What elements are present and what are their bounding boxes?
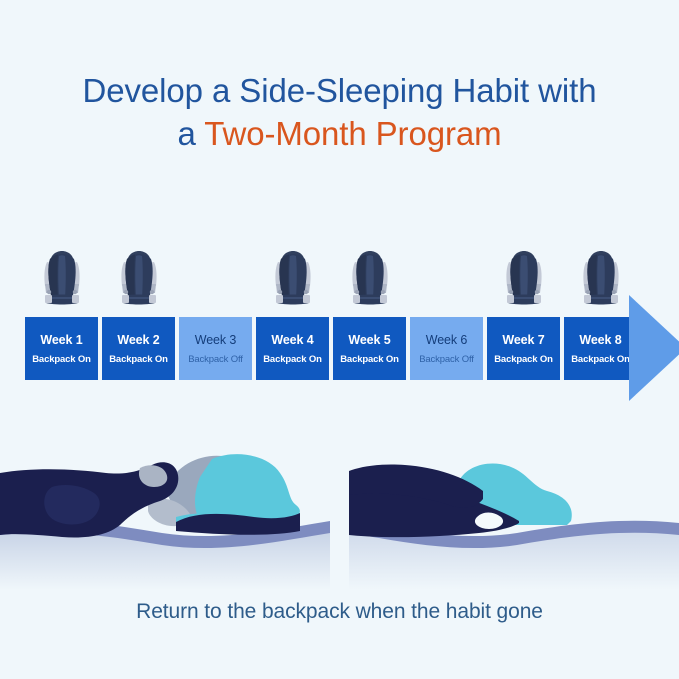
week-state-label: Backpack On (340, 354, 399, 365)
week-state-label: Backpack Off (419, 354, 474, 365)
sleeping-illustration (0, 425, 679, 590)
week-state-label: Backpack On (263, 354, 322, 365)
week-state-label: Backpack Off (188, 354, 243, 365)
title-line-1: Develop a Side-Sleeping Habit with (0, 70, 679, 113)
week-block-8[interactable]: Week 8Backpack On (564, 317, 637, 380)
week-label: Week 7 (502, 333, 544, 347)
program-timeline: Week 1Backpack OnWeek 2Backpack OnWeek 3… (25, 248, 659, 413)
caption-text: Return to the backpack when the habit go… (0, 600, 679, 624)
week-label: Week 8 (579, 333, 621, 347)
posture-brace-icon (502, 248, 546, 308)
page-title: Develop a Side-Sleeping Habit with a Two… (0, 70, 679, 156)
week-label: Week 1 (40, 333, 82, 347)
week-block-6[interactable]: Week 6Backpack Off (410, 317, 483, 380)
right-sleeper-scene (349, 463, 679, 590)
posture-brace-icon (348, 248, 392, 308)
week-state-label: Backpack On (571, 354, 630, 365)
week-block-1[interactable]: Week 1Backpack On (25, 317, 98, 380)
week-label: Week 6 (426, 333, 468, 347)
week-state-label: Backpack On (494, 354, 553, 365)
week-state-label: Backpack On (32, 354, 91, 365)
brace-icon-row (25, 248, 605, 310)
week-block-4[interactable]: Week 4Backpack On (256, 317, 329, 380)
posture-brace-icon (40, 248, 84, 308)
title-line-2-highlight: Two-Month Program (204, 115, 501, 152)
week-label: Week 5 (348, 333, 390, 347)
week-blocks-row: Week 1Backpack OnWeek 2Backpack OnWeek 3… (25, 317, 637, 380)
week-block-5[interactable]: Week 5Backpack On (333, 317, 406, 380)
title-line-2-prefix: a (178, 115, 205, 152)
week-block-3[interactable]: Week 3Backpack Off (179, 317, 252, 380)
right-arrow-icon (629, 295, 679, 401)
title-line-2: a Two-Month Program (0, 113, 679, 156)
week-block-2[interactable]: Week 2Backpack On (102, 317, 175, 380)
posture-brace-icon (271, 248, 315, 308)
week-block-7[interactable]: Week 7Backpack On (487, 317, 560, 380)
week-label: Week 4 (271, 333, 313, 347)
posture-brace-icon (579, 248, 623, 308)
week-label: Week 3 (195, 333, 237, 347)
left-sleeper-scene (0, 454, 330, 590)
posture-brace-icon (117, 248, 161, 308)
week-label: Week 2 (117, 333, 159, 347)
week-state-label: Backpack On (109, 354, 168, 365)
